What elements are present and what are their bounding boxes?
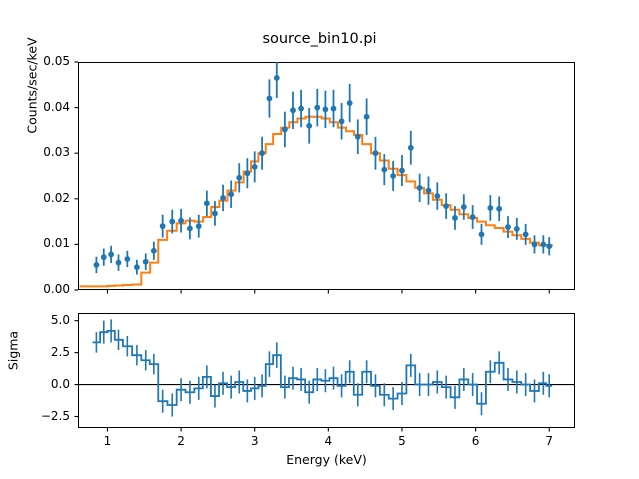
ytick-residuals-1: 0.0: [6, 377, 70, 391]
ytick-spectrum-2: 0.02: [6, 191, 70, 205]
ytick-spectrum-3: 0.03: [6, 145, 70, 159]
ytick-spectrum-0: 0.00: [6, 282, 70, 296]
figure-canvas: source_bin10.pi Counts/sec/keV Sigma Ene…: [0, 0, 639, 479]
ytick-residuals-0: −2.5: [6, 409, 70, 423]
xtick-bottom-4: 5: [382, 434, 422, 448]
xtick-bottom-3: 4: [308, 434, 348, 448]
xtick-bottom-0: 1: [87, 434, 127, 448]
xtick-bottom-5: 6: [456, 434, 496, 448]
ytick-spectrum-1: 0.01: [6, 236, 70, 250]
xtick-bottom-1: 2: [161, 434, 201, 448]
residual-series: [93, 319, 552, 416]
ytick-residuals-3: 5.0: [6, 313, 70, 327]
spectrum-data-points: [94, 62, 553, 274]
xtick-bottom-6: 7: [529, 434, 569, 448]
model-step-curve: [79, 117, 552, 287]
ytick-residuals-2: 2.5: [6, 345, 70, 359]
ytick-spectrum-4: 0.04: [6, 100, 70, 114]
ytick-spectrum-5: 0.05: [6, 54, 70, 68]
plot-drawing-layer: [0, 0, 639, 479]
xtick-bottom-2: 3: [235, 434, 275, 448]
